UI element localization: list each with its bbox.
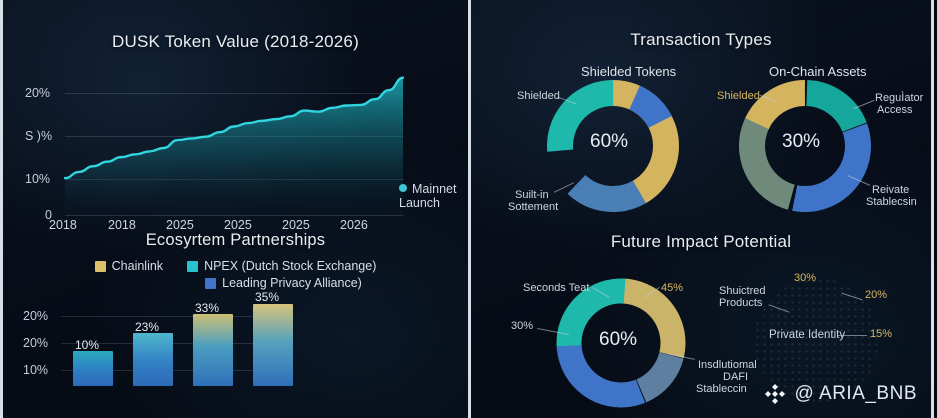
future-label-institutional-3: Stableccin <box>696 383 747 396</box>
shielded-tokens-caption: Shielded Tokens <box>581 64 676 79</box>
shielded-tokens-label-shielded: Shielded <box>517 90 560 103</box>
legend-label: NPEX (Dutch Stock Exchange) <box>204 258 376 275</box>
watermark-text: @ ARIA_BNB <box>795 383 918 405</box>
bubble-label-structured-2: Products <box>719 297 762 310</box>
future-value-30: 30% <box>511 320 533 333</box>
legend-swatch-icon <box>187 261 198 272</box>
onchain-assets-caption: On-Chain Assets <box>769 64 867 79</box>
legend-item-chainlink: Chainlink <box>95 258 163 275</box>
onchain-label-private-1: Reivate <box>872 184 909 197</box>
onchain-label-regulator-2: Access <box>877 104 912 117</box>
bar-2 <box>133 333 173 386</box>
line-x-tick-2: 2025 <box>166 218 194 232</box>
bar-3 <box>193 314 233 386</box>
legend-dot-icon <box>399 184 407 192</box>
leader-line <box>837 335 867 336</box>
legend-item-npex: NPEX (Dutch Stock Exchange) <box>187 258 376 275</box>
binance-diamond-icon <box>763 382 787 406</box>
transaction-types-title: Transaction Types <box>471 0 931 50</box>
legend-label: Leading Privacy Alliance) <box>222 275 362 292</box>
bar-value-4: 35% <box>255 290 279 304</box>
line-x-tick-3: 2025 <box>224 218 252 232</box>
future-value-45: 45% <box>661 282 683 295</box>
line-chart: 20% S )% 10% 0 2018 2018 2025 2025 202 <box>3 60 468 225</box>
onchain-label-private-2: Stablecsin <box>866 196 917 209</box>
bar-value-1: 10% <box>75 338 99 352</box>
bubble-label-private-identity: Private Identity <box>769 329 845 342</box>
legend-item-privacy-alliance: Leading Privacy Alliance) <box>205 275 362 292</box>
bubble-value-20: 20% <box>865 289 887 302</box>
shielded-tokens-label-builtin-2: Sottement <box>508 201 558 214</box>
infographic-root: DUSK Token Value (2018-2026) 20% S )% 10… <box>0 0 937 418</box>
bar-y-tick-2: 10% <box>23 363 48 377</box>
mainnet-launch-legend: Mainnet Launch <box>399 182 456 210</box>
line-x-tick-1: 2018 <box>108 218 136 232</box>
bar-chart-legend: Chainlink NPEX (Dutch Stock Exchange) Le… <box>3 258 468 292</box>
bar-y-tick-1: 20% <box>23 336 48 350</box>
bar-value-2: 23% <box>135 320 159 334</box>
bar-chart: 20% 20% 10% 10% 23% 33% 35% <box>3 298 468 386</box>
future-impact-title: Future Impact Potential <box>471 232 931 252</box>
line-x-tick-5: 2026 <box>340 218 368 232</box>
onchain-assets-center-value: 30% <box>782 131 820 153</box>
future-label-institutional-1: Insdlutiomal <box>698 359 757 372</box>
bar-4 <box>253 304 293 386</box>
shielded-tokens-center-value: 60% <box>590 131 628 153</box>
bubble-value-30: 30% <box>794 272 816 285</box>
mainnet-legend-line2: Launch <box>399 196 440 210</box>
bar-value-3: 33% <box>195 301 219 315</box>
bubble-label-structured-1: Shuictred <box>719 285 765 298</box>
shielded-tokens-label-builtin-1: Suilt-in <box>515 189 549 202</box>
mainnet-legend-line1: Mainnet <box>412 182 456 196</box>
line-chart-title: DUSK Token Value (2018-2026) <box>3 0 468 52</box>
bar-1 <box>73 351 113 386</box>
line-x-tick-0: 2018 <box>49 218 77 232</box>
future-label-seconds-test: Seconds Teat <box>523 282 589 295</box>
future-impact-center-value: 60% <box>599 329 637 351</box>
legend-label: Chainlink <box>112 258 163 275</box>
onchain-label-shielded: Shielded <box>717 90 760 103</box>
future-label-institutional-2: DAFI <box>723 371 748 384</box>
watermark: @ ARIA_BNB <box>763 382 918 406</box>
bar-gridline <box>61 316 271 317</box>
line-x-tick-4: 2025 <box>282 218 310 232</box>
bubble-value-15: 15% <box>870 328 892 341</box>
left-panel: DUSK Token Value (2018-2026) 20% S )% 10… <box>0 0 468 418</box>
bar-chart-title: Ecosyrtem Partnerships <box>3 231 468 250</box>
legend-swatch-icon <box>95 261 106 272</box>
right-panel: Transaction Types Shielded Tokens 60% Sh… <box>468 0 934 418</box>
bar-y-tick-0: 20% <box>23 309 48 323</box>
onchain-label-regulator-1: ReguÌator <box>875 92 923 105</box>
legend-swatch-icon <box>205 278 216 289</box>
